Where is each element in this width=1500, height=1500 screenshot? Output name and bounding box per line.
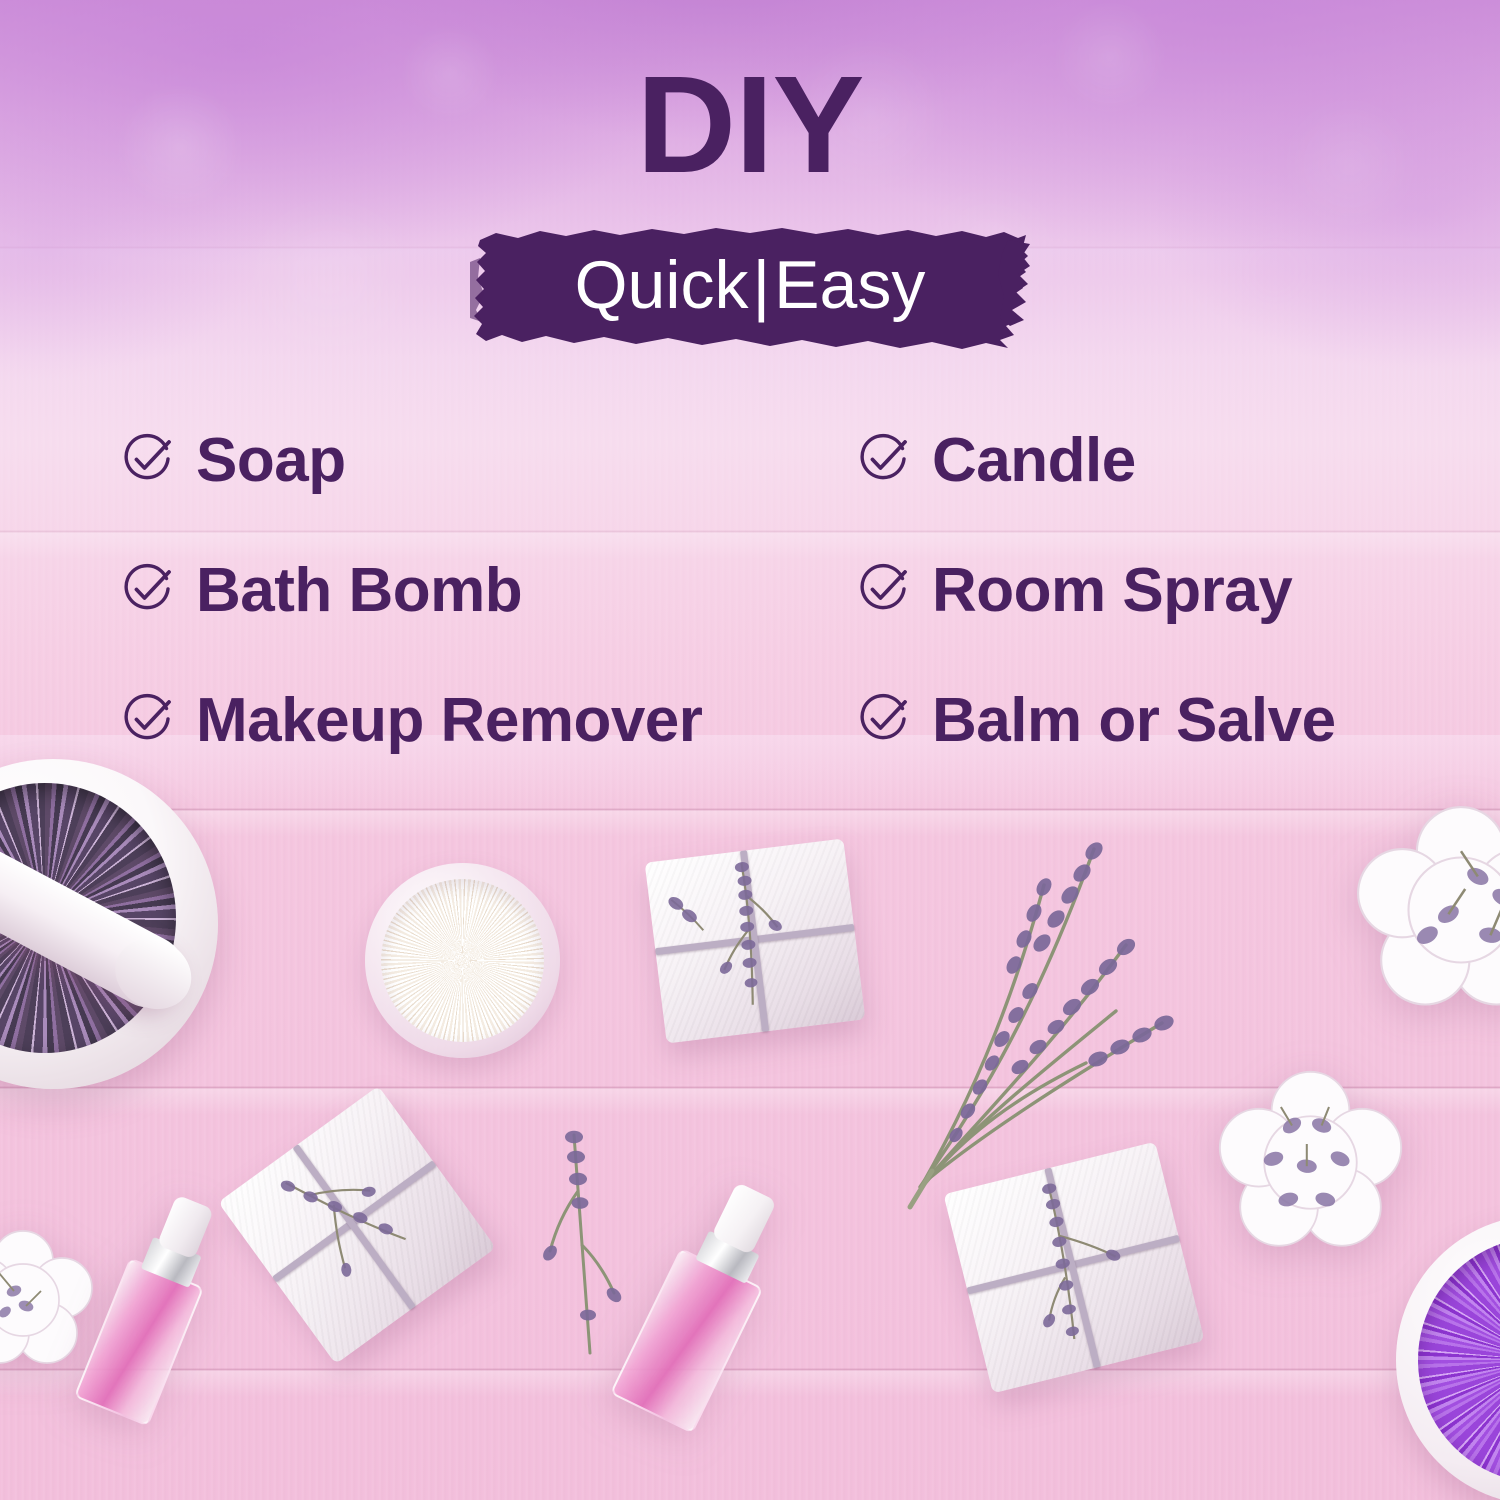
quick-easy-banner: Quick | Easy bbox=[470, 222, 1030, 354]
list-item-balm-or-salve[interactable]: Balm or Salve bbox=[840, 656, 1500, 786]
check-circle-icon bbox=[120, 562, 174, 621]
list-item-room-spray[interactable]: Room Spray bbox=[840, 526, 1500, 656]
banner-left-word: Quick bbox=[575, 251, 749, 319]
list-item-label: Bath Bomb bbox=[196, 560, 522, 622]
list-item-label: Makeup Remover bbox=[196, 690, 702, 752]
diy-lavender-poster: DIY Quick | Easy Soap bbox=[0, 0, 1500, 1500]
banner-right-word: Easy bbox=[774, 251, 925, 319]
list-item-soap[interactable]: Soap bbox=[120, 396, 840, 526]
check-circle-icon bbox=[856, 562, 910, 621]
list-item-makeup-remover[interactable]: Makeup Remover bbox=[120, 656, 840, 786]
list-item-bath-bomb[interactable]: Bath Bomb bbox=[120, 526, 840, 656]
poster-content: DIY Quick | Easy Soap bbox=[0, 0, 1500, 1500]
check-circle-icon bbox=[120, 432, 174, 491]
list-item-label: Soap bbox=[196, 430, 346, 492]
list-item-label: Balm or Salve bbox=[932, 690, 1336, 752]
check-circle-icon bbox=[856, 692, 910, 751]
list-item-label: Candle bbox=[932, 430, 1136, 492]
check-circle-icon bbox=[856, 432, 910, 491]
page-title: DIY bbox=[0, 56, 1500, 194]
banner-text: Quick | Easy bbox=[470, 222, 1030, 354]
check-circle-icon bbox=[120, 692, 174, 751]
list-item-candle[interactable]: Candle bbox=[840, 396, 1500, 526]
diy-checklist: Soap Candle Bath Bomb bbox=[0, 396, 1500, 786]
list-item-label: Room Spray bbox=[932, 560, 1292, 622]
banner-separator: | bbox=[748, 251, 774, 319]
